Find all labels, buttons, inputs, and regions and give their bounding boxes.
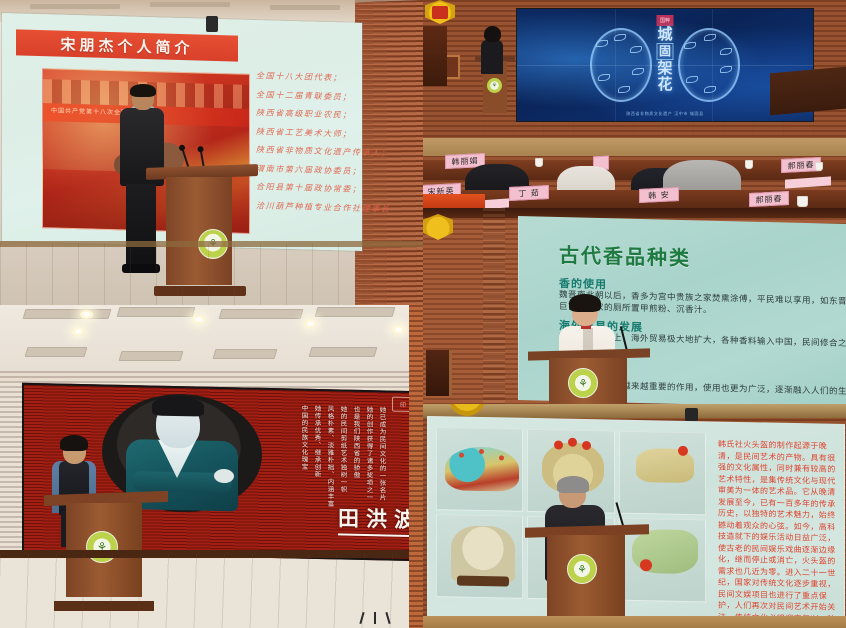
slide-title-banner: 宋朋杰个人简介 xyxy=(16,29,238,61)
tripod-stand xyxy=(361,610,389,624)
credentials-list: 全国十八大团代表； 全国十二届青联委员； 陕西省高级职业农民； 陕西省工艺美术大… xyxy=(256,70,416,215)
ceiling-tile xyxy=(119,351,184,361)
led-text-column: 她的创作获得了诸多奖项之一 xyxy=(365,406,373,492)
led-title-char: 固 xyxy=(657,43,673,60)
slide-title: 宋朋杰个人简介 xyxy=(60,33,193,58)
podium: ⚘ xyxy=(533,350,645,404)
ceiling-tile xyxy=(309,347,378,357)
side-door xyxy=(426,350,452,396)
paper-cup xyxy=(797,196,808,207)
stage-floor xyxy=(423,616,846,628)
credential-item: 渭南市第六届政协委员； xyxy=(256,163,416,178)
led-text-column: 也是我们陕西省的骄傲 xyxy=(352,406,360,492)
red-banner xyxy=(423,194,485,208)
led-title-block: 国粹 城 固 架 花 xyxy=(657,15,674,92)
paper-cup xyxy=(535,158,543,167)
name-plate: 韩 安 xyxy=(639,187,679,203)
podium: ⚘ xyxy=(531,526,643,626)
slide-title: 古代香品种类 xyxy=(559,239,691,271)
wall-slat-strip xyxy=(483,208,505,404)
ceiling-tile xyxy=(117,307,196,317)
speaker-hair xyxy=(130,84,156,97)
ceiling-speaker-box xyxy=(685,408,698,421)
led-text-column: 她已成为民间文化的一张名片 xyxy=(378,406,386,492)
upper-wood-band xyxy=(423,404,846,418)
side-door xyxy=(423,26,447,86)
wheat-emblem-icon: ⚘ xyxy=(487,78,502,93)
audience-area: 韩丽娟 郝丽春 宋新英 丁 茹 韩 安 郝丽春 xyxy=(423,148,846,208)
handout-paper xyxy=(785,176,831,188)
right-wall-slats xyxy=(409,305,423,628)
ceiling-speaker-box xyxy=(206,16,218,32)
ceiling-tile xyxy=(315,307,396,317)
portrait-hair xyxy=(152,396,204,417)
credential-item: 全国十二届青联委员； xyxy=(256,89,416,104)
led-text-column: 她传承优秀、继承创新 xyxy=(313,405,321,491)
name-plate: 郝丽春 xyxy=(749,191,789,207)
led-subtitle: 陕西省非物质文化遗产 汉中市 城固县 xyxy=(626,111,703,116)
coral-artifact xyxy=(451,525,515,582)
ceiling-strip xyxy=(270,5,340,10)
presenter-body xyxy=(481,40,503,74)
photo-collage: 宋朋杰个人简介 中国共产党第十八次全国代表大会 全国十八大团代表； 全国十二届青… xyxy=(0,0,846,628)
led-title-char: 城 xyxy=(657,27,672,42)
led-title-char: 架 xyxy=(657,61,672,76)
exhibit-cell xyxy=(436,514,523,599)
badge-inner xyxy=(432,6,448,19)
led-vertical-text: 她已成为民间文化的一张名片 她的创作获得了诸多奖项之一 也是我们陕西省的骄傲 她… xyxy=(300,405,386,493)
paper-cup xyxy=(815,162,823,171)
ceiling-light xyxy=(72,327,85,336)
ceiling-tile xyxy=(23,309,112,319)
slide-body-text: 韩氏社火头盔的制作起源于晚清，是民间艺术的产物。具有很强的文化属性，同时兼有较高… xyxy=(718,439,838,628)
ceiling-light xyxy=(392,325,405,334)
credential-item: 陕西省非物质文化遗产传承人； xyxy=(256,144,416,159)
led-title-char: 花 xyxy=(657,77,672,92)
side-table xyxy=(770,67,846,116)
exhibit-cell xyxy=(619,431,706,516)
credential-item: 陕西省高级职业农民； xyxy=(256,107,416,122)
wreath-ring-right xyxy=(678,28,740,102)
ceiling-tile xyxy=(25,347,88,357)
name-plate: 丁 茹 xyxy=(509,185,549,201)
speaker-hair xyxy=(569,294,601,312)
led-text-column: 她的民间剪纸艺术独树一帜 xyxy=(339,405,347,491)
presenter-person xyxy=(479,28,505,72)
speaker-hair xyxy=(557,476,589,493)
panel-top-left-speaker-profile: 宋朋杰个人简介 中国共产党第十八次全国代表大会 全国十八大团代表； 全国十二届青… xyxy=(0,0,423,305)
helmet-artifact xyxy=(636,448,694,483)
panel-bottom-left-red-led: 印 她已成为民间文化的一张名片 她的创作获得了诸多奖项之一 也是我们陕西省的骄傲… xyxy=(0,305,423,628)
paper-cup xyxy=(745,160,753,169)
ceiling-light xyxy=(304,319,317,328)
ceiling-tile xyxy=(213,349,278,359)
helmet-artifact xyxy=(445,446,519,491)
wheat-emblem-icon: ⚘ xyxy=(568,368,598,398)
artifact-stand xyxy=(457,576,509,587)
stage-floor xyxy=(0,554,423,628)
ceiling-light xyxy=(80,310,93,319)
credential-item: 合阳县第十届政协常委； xyxy=(256,181,416,196)
wreath-ring-left xyxy=(590,28,652,102)
speaker-hair xyxy=(60,435,88,451)
ceiling-strip xyxy=(150,2,230,7)
ceiling-tile xyxy=(219,309,304,319)
led-text-column: 中国的民族文化瑰宝 xyxy=(300,405,308,491)
portrait-hand xyxy=(214,469,234,483)
panel-mid-right-incense-slide: 古代香品种类 香的使用 魏晋南北朝以后，香多为宫中贵族之家焚熏涂傅，平民难以享用… xyxy=(423,208,846,404)
credential-item: 洽川葫芦种植专业合作社理事长 xyxy=(256,200,416,215)
exhibit-cell xyxy=(436,427,523,512)
presenter-hair xyxy=(484,26,501,42)
panel-bottom-right-helmet-slide: 韩氏社火头盔的制作起源于晚清，是民间艺术的产物。具有很强的文化属性，同时兼有较高… xyxy=(423,404,846,628)
stage-floor xyxy=(0,243,423,305)
ceiling-strip xyxy=(30,4,120,9)
credential-item: 陕西省工艺美术大师； xyxy=(256,126,416,141)
led-text-column: 风格朴素、淡雅朴拙、内涵丰富 xyxy=(326,405,334,491)
ceiling-light xyxy=(192,315,205,324)
wheat-emblem-icon: ⚘ xyxy=(567,554,597,584)
panel-top-right-audience: 国粹 城 固 架 花 陕西省非物质文化遗产 汉中市 城固县 ⚘ 韩丽娟 郝丽春 xyxy=(423,0,846,208)
